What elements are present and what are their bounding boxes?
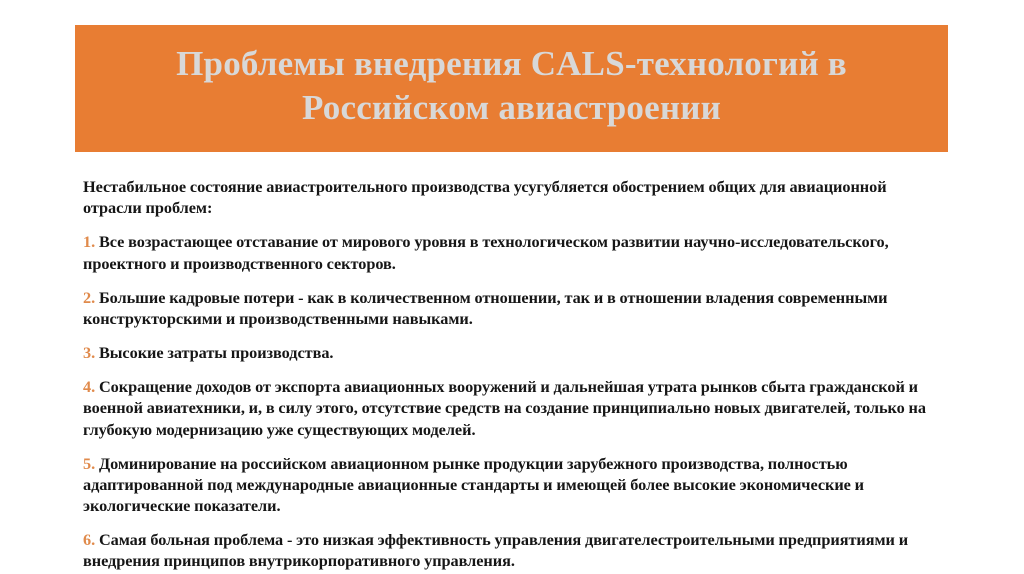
- list-item: 6. Самая больная проблема - это низкая э…: [83, 529, 945, 571]
- list-item: 5. Доминирование на российском авиационн…: [83, 453, 945, 517]
- list-item: 2. Большие кадровые потери - как в колич…: [83, 287, 945, 329]
- list-item-text: Доминирование на российском авиационном …: [83, 454, 864, 515]
- intro-text: Нестабильное состояние авиастроительного…: [83, 177, 887, 217]
- list-item-number: 2.: [83, 288, 95, 307]
- slide-title: Проблемы внедрения CALS-технологий в Рос…: [93, 42, 930, 129]
- list-item-number: 4.: [83, 377, 95, 396]
- intro-paragraph: Нестабильное состояние авиастроительного…: [83, 176, 945, 218]
- list-item-text: Большие кадровые потери - как в количест…: [83, 288, 887, 328]
- slide-body: Нестабильное состояние авиастроительного…: [83, 176, 945, 572]
- list-item: 3. Высокие затраты производства.: [83, 342, 945, 363]
- list-item-number: 1.: [83, 232, 95, 251]
- slide-canvas: Проблемы внедрения CALS-технологий в Рос…: [0, 0, 1024, 574]
- list-item-number: 5.: [83, 454, 95, 473]
- title-banner: Проблемы внедрения CALS-технологий в Рос…: [75, 25, 948, 152]
- list-item-text: Все возрастающее отставание от мирового …: [83, 232, 889, 272]
- list-item-text: Сокращение доходов от экспорта авиационн…: [83, 377, 926, 438]
- list-item: 4. Сокращение доходов от экспорта авиаци…: [83, 376, 945, 440]
- list-item-number: 3.: [83, 343, 95, 362]
- list-item-text: Высокие затраты производства.: [99, 343, 333, 362]
- list-item-text: Самая больная проблема - это низкая эффе…: [83, 530, 908, 570]
- list-item: 1. Все возрастающее отставание от мирово…: [83, 231, 945, 273]
- list-item-number: 6.: [83, 530, 95, 549]
